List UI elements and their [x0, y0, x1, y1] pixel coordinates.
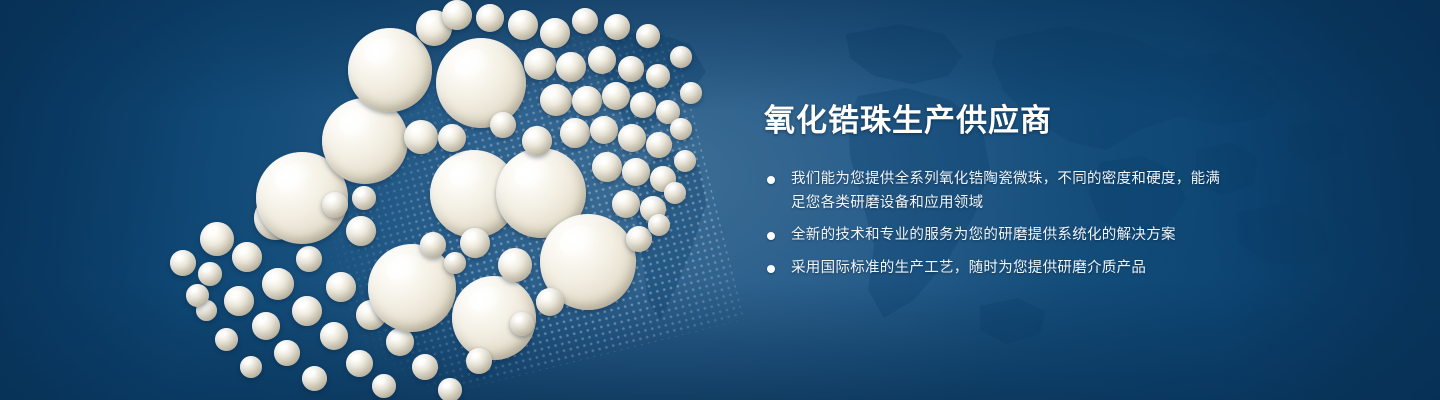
feature-list: 我们能为您提供全系列氧化锆陶瓷微珠，不同的密度和硬度，能满足您各类研磨设备和应用…	[764, 168, 1234, 280]
bead	[352, 186, 376, 210]
bead	[320, 322, 348, 350]
bead	[648, 214, 670, 236]
bead	[560, 118, 590, 148]
bead	[240, 356, 262, 378]
bead	[524, 48, 556, 80]
bead	[438, 378, 462, 400]
bead	[200, 222, 234, 256]
bead	[522, 126, 552, 156]
bead	[302, 366, 327, 391]
list-item: 我们能为您提供全系列氧化锆陶瓷微珠，不同的密度和硬度，能满足您各类研磨设备和应用…	[764, 168, 1234, 215]
bead	[636, 24, 660, 48]
bead	[508, 10, 538, 40]
bead	[622, 158, 650, 186]
page-title: 氧化锆珠生产供应商	[764, 104, 1234, 138]
bullet-dot-icon	[767, 265, 775, 273]
list-item: 采用国际标准的生产工艺，随时为您提供研磨介质产品	[764, 257, 1234, 280]
bead	[346, 350, 373, 377]
bead	[646, 64, 670, 88]
bead	[618, 124, 646, 152]
list-item: 全新的技术和专业的服务为您的研磨提供系统化的解决方案	[764, 224, 1234, 247]
bead	[274, 340, 300, 366]
product-hero-banner: 氧化锆珠生产供应商 我们能为您提供全系列氧化锆陶瓷微珠，不同的密度和硬度，能满足…	[0, 0, 1440, 400]
bead	[420, 232, 446, 258]
bullet-dot-icon	[767, 232, 775, 240]
bead	[572, 8, 598, 34]
list-item-text: 我们能为您提供全系列氧化锆陶瓷微珠，不同的密度和硬度，能满足您各类研磨设备和应用…	[791, 171, 1220, 210]
bead	[536, 288, 564, 316]
bead	[670, 46, 692, 68]
bead	[296, 246, 322, 272]
bead	[368, 244, 456, 332]
bead	[588, 46, 616, 74]
bead	[540, 18, 570, 48]
bead	[224, 286, 254, 316]
bead	[460, 228, 490, 258]
bead	[170, 250, 196, 276]
bead	[602, 82, 630, 110]
bead	[604, 14, 630, 40]
bead	[232, 242, 262, 272]
bead	[540, 84, 572, 116]
bead	[346, 216, 376, 246]
banner-text-block: 氧化锆珠生产供应商 我们能为您提供全系列氧化锆陶瓷微珠，不同的密度和硬度，能满足…	[764, 104, 1234, 280]
bead	[680, 82, 702, 104]
zirconia-bead-cluster-image	[0, 0, 760, 400]
bead	[262, 268, 294, 300]
bead	[386, 328, 414, 356]
bead	[215, 328, 238, 351]
bead	[626, 226, 652, 252]
bead	[348, 28, 432, 112]
bead	[612, 190, 640, 218]
bead	[664, 182, 686, 204]
bead	[326, 272, 356, 302]
bead	[646, 132, 672, 158]
bead	[372, 374, 396, 398]
bead	[322, 192, 348, 218]
bead	[252, 312, 280, 340]
bead	[198, 262, 222, 286]
bullet-dot-icon	[767, 176, 775, 184]
bead	[556, 52, 586, 82]
bead	[476, 4, 504, 32]
bead	[670, 118, 692, 140]
bead	[498, 248, 532, 282]
bead	[444, 252, 466, 274]
bead	[618, 56, 644, 82]
list-item-text: 全新的技术和专业的服务为您的研磨提供系统化的解决方案	[791, 227, 1176, 243]
bead	[592, 152, 622, 182]
bead	[186, 284, 209, 307]
list-item-text: 采用国际标准的生产工艺，随时为您提供研磨介质产品	[791, 260, 1146, 276]
bead	[674, 150, 696, 172]
bead	[590, 116, 618, 144]
bead	[436, 38, 526, 128]
bead	[442, 0, 472, 30]
bead	[292, 296, 322, 326]
bead	[490, 112, 516, 138]
bead	[510, 312, 534, 336]
bead	[438, 124, 466, 152]
bead	[630, 92, 656, 118]
bead	[572, 86, 602, 116]
bead	[466, 348, 492, 374]
bead	[404, 120, 438, 154]
bead	[412, 354, 438, 380]
